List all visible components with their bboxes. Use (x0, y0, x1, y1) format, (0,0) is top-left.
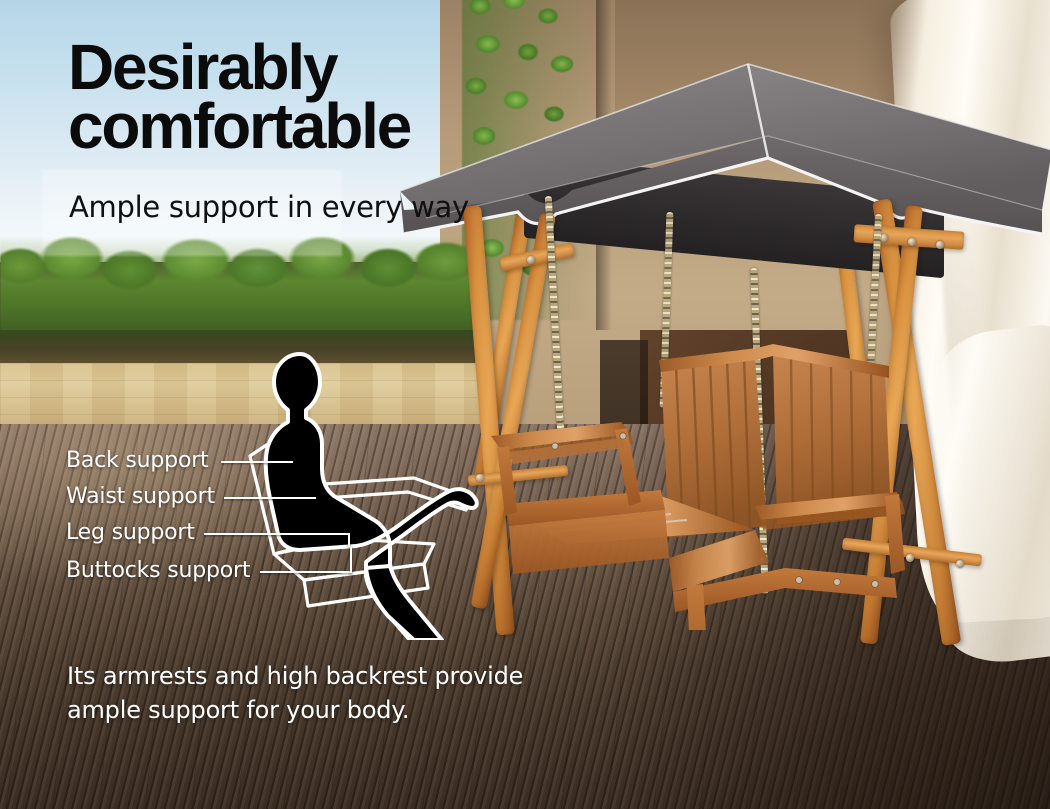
bolt-4 (527, 256, 535, 264)
leader-line-back-support (221, 461, 293, 463)
swing-seat-assembly (455, 330, 935, 630)
subtitle: Ample support in every way (69, 190, 469, 224)
leader-tick-leg-vertical (348, 533, 350, 547)
leader-tick-buttocks-vertical (350, 546, 352, 573)
callout-label-leg-support: Leg support (66, 520, 195, 545)
bolt-3 (936, 241, 944, 249)
bolt-2 (908, 238, 916, 246)
canopy-assembly (396, 58, 1050, 258)
page-title: Desirably comfortable (68, 38, 410, 156)
bottom-caption: Its armrests and high backrest provide a… (67, 659, 523, 727)
bolt-1 (880, 234, 888, 242)
bolt-7 (956, 560, 964, 568)
callout-label-buttocks-support: Buttocks support (66, 558, 250, 583)
marketing-image-canvas: Desirably comfortable Ample support in e… (0, 0, 1050, 809)
leader-line-leg-support (204, 533, 350, 535)
canopy-fabric (396, 58, 1050, 238)
seated-person-silhouette (238, 348, 508, 640)
callout-label-waist-support: Waist support (66, 484, 215, 509)
callout-label-back-support: Back support (66, 448, 208, 473)
leader-line-waist-support (224, 497, 316, 499)
leader-line-buttocks-support (260, 571, 352, 573)
